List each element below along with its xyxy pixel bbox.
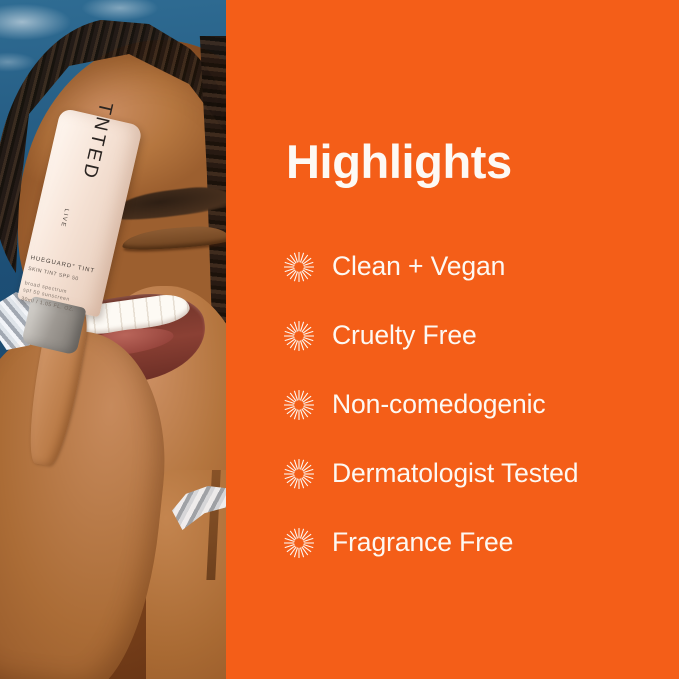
product-lifestyle-photo: TNTED LIVE HUEGUARD° TINT SKIN TINT SPF … bbox=[0, 0, 226, 679]
highlights-panel: Highlights bbox=[226, 0, 679, 679]
highlight-label: Fragrance Free bbox=[316, 527, 513, 558]
highlight-label: Non-comedogenic bbox=[316, 389, 546, 420]
sunburst-icon bbox=[282, 526, 316, 560]
list-item: Clean + Vegan bbox=[282, 232, 662, 301]
highlight-label: Dermatologist Tested bbox=[316, 458, 578, 489]
highlight-label: Clean + Vegan bbox=[316, 251, 505, 282]
sunburst-icon bbox=[282, 457, 316, 491]
highlight-label: Cruelty Free bbox=[316, 320, 477, 351]
sunburst-icon bbox=[282, 388, 316, 422]
highlights-list: Clean + Vegan bbox=[282, 232, 662, 577]
list-item: Fragrance Free bbox=[282, 508, 662, 577]
marketing-image: TNTED LIVE HUEGUARD° TINT SKIN TINT SPF … bbox=[0, 0, 679, 679]
list-item: Non-comedogenic bbox=[282, 370, 662, 439]
sunburst-icon bbox=[282, 250, 316, 284]
panel-title: Highlights bbox=[286, 138, 512, 185]
sunburst-icon bbox=[282, 319, 316, 353]
list-item: Cruelty Free bbox=[282, 301, 662, 370]
list-item: Dermatologist Tested bbox=[282, 439, 662, 508]
